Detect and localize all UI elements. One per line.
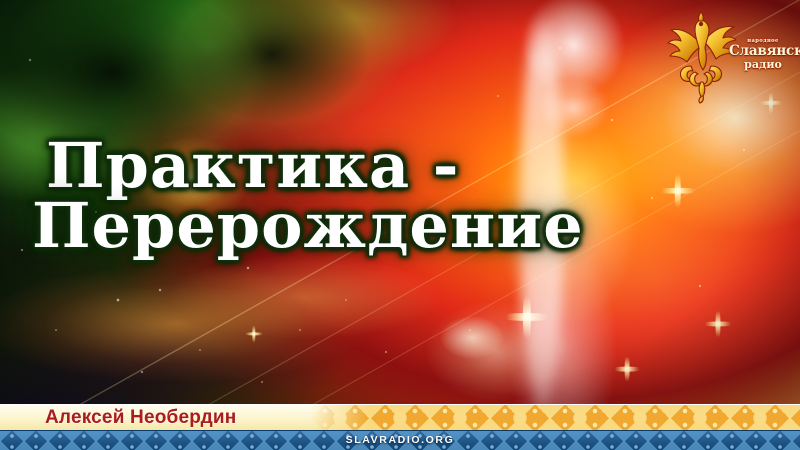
- sparkle-star-icon: [700, 306, 736, 342]
- logo-big-text: Славянское: [729, 45, 797, 59]
- ornament-dot-row: [310, 405, 800, 431]
- slavic-ornament-pattern: [310, 405, 800, 431]
- logo-mid-text: радио: [729, 59, 797, 71]
- speaker-name: Алексей Необердин: [45, 405, 236, 430]
- title-line-1: Практика -: [46, 136, 566, 196]
- station-logo-text: народное Славянское радио: [729, 38, 797, 71]
- station-logo[interactable]: народное Славянское радио: [663, 6, 795, 106]
- page-title: Практика - Перерождение: [46, 136, 566, 255]
- site-url: SLAVRADIO.ORG: [0, 431, 800, 450]
- video-thumbnail-poster: Практика - Перерождение: [0, 0, 800, 450]
- sparkle-star-icon: [242, 322, 266, 346]
- title-line-2: Перерождение: [32, 196, 566, 256]
- firebird-phoenix-icon: [665, 8, 737, 104]
